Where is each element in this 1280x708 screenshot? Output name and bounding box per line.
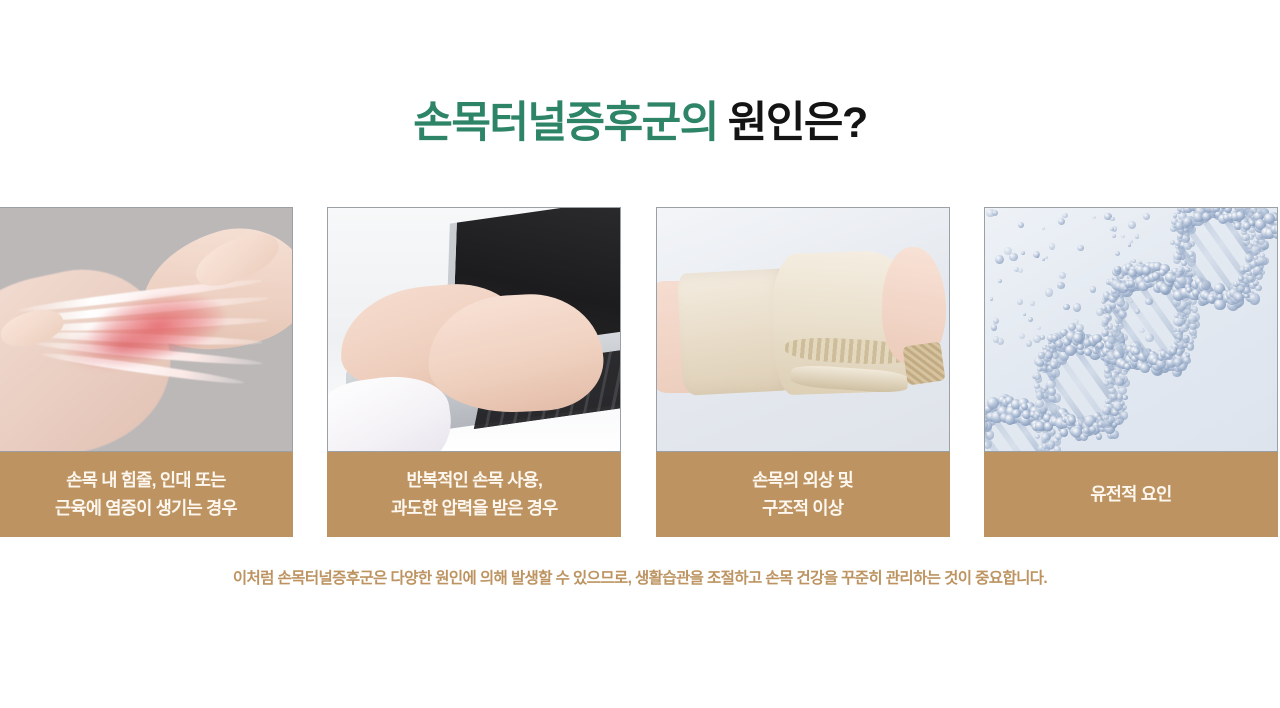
dna-sphere-scattered	[1143, 213, 1150, 220]
dna-sphere-scattered	[1096, 308, 1104, 316]
dna-sphere	[1114, 376, 1124, 386]
cause-card-inflammation: 손목 내 힘줄, 인대 또는 근육에 염증이 생기는 경우	[0, 207, 293, 537]
dna-sphere	[1174, 239, 1181, 246]
wrist-anatomy-inflammation-photo	[0, 207, 293, 452]
dna-sphere	[1035, 399, 1044, 408]
dna-sphere	[1140, 363, 1150, 373]
typing-on-laptop-photo	[327, 207, 621, 452]
dna-sphere	[1277, 228, 1278, 238]
dna-sphere	[1065, 345, 1076, 356]
dna-sphere	[1034, 383, 1040, 389]
dna-sphere	[1054, 452, 1060, 453]
cause-card-genetic: 유전적 요인	[984, 207, 1278, 537]
dna-sphere-scattered	[1063, 304, 1069, 310]
dna-sphere-scattered	[1068, 323, 1076, 331]
dna-sphere-scattered	[1023, 313, 1026, 316]
dna-sphere-scattered	[1018, 268, 1023, 273]
dna-sphere	[1089, 426, 1096, 433]
dna-sphere	[1161, 285, 1169, 293]
page-title-question: 원인은?	[728, 99, 867, 147]
dna-sphere-scattered	[1021, 251, 1025, 255]
dna-sphere-scattered	[1110, 227, 1113, 230]
dna-sphere-scattered	[1145, 298, 1153, 306]
dna-helix-photo	[984, 207, 1278, 452]
caption-line-2: 과도한 압력을 받은 경우	[391, 495, 558, 522]
dna-sphere	[1120, 411, 1128, 419]
dna-sphere-scattered	[1090, 286, 1096, 292]
dna-sphere-scattered	[1049, 243, 1055, 249]
dna-sphere-scattered	[1073, 303, 1082, 312]
dna-sphere	[1102, 317, 1109, 324]
dna-sphere-scattered	[1114, 307, 1120, 313]
dna-sphere-scattered	[1026, 340, 1032, 346]
caption-line-2: 근육에 염증이 생기는 경우	[55, 495, 237, 522]
dna-sphere-scattered	[1018, 222, 1024, 228]
dna-sphere	[1041, 433, 1050, 442]
wrist-brace-photo	[656, 207, 950, 452]
dna-sphere	[1173, 213, 1177, 217]
dna-sphere-scattered	[1115, 251, 1120, 256]
cause-card-caption: 유전적 요인	[984, 452, 1278, 537]
dna-sphere	[1257, 256, 1266, 265]
dna-sphere-scattered	[1078, 245, 1085, 252]
dna-sphere	[1188, 315, 1197, 324]
dna-sphere-scattered	[1083, 339, 1091, 347]
cause-card-repetitive-use: 반복적인 손목 사용, 과도한 압력을 받은 경우	[327, 207, 621, 537]
dna-sphere-scattered	[1028, 317, 1033, 322]
dna-sphere-scattered	[1045, 288, 1053, 296]
dna-sphere-scattered	[1062, 213, 1068, 219]
dna-sphere-scattered	[1045, 256, 1048, 259]
dna-sphere	[1191, 306, 1198, 313]
dna-sphere	[1048, 387, 1056, 395]
page-title: 손목터널증후군의원인은?	[0, 102, 1280, 145]
dna-sphere	[1040, 335, 1045, 340]
dna-sphere-scattered	[1139, 328, 1144, 333]
page-title-highlight: 손목터널증후군의	[413, 99, 717, 147]
dna-sphere	[1122, 395, 1128, 401]
dna-sphere	[1107, 377, 1114, 384]
dna-sphere	[1244, 294, 1248, 298]
brace-velcro-strap	[902, 342, 945, 386]
summary-note: 이처럼 손목터널증후군은 다양한 원인에 의해 발생할 수 있으므로, 생활습관…	[0, 566, 1280, 588]
dna-sphere-scattered	[998, 279, 1002, 283]
dna-sphere-scattered	[1059, 272, 1066, 279]
dna-sphere-scattered	[1110, 217, 1115, 222]
cause-card-caption: 손목 내 힘줄, 인대 또는 근육에 염증이 생기는 경우	[0, 452, 293, 537]
dna-sphere-scattered	[1058, 218, 1065, 225]
dna-sphere	[1107, 398, 1113, 404]
dna-sphere	[1237, 285, 1244, 292]
dna-sphere-scattered	[1004, 247, 1012, 255]
caption-line-1: 손목의 외상 및	[752, 467, 853, 494]
dna-sphere-scattered	[1037, 326, 1041, 330]
dna-sphere-scattered	[1033, 251, 1040, 258]
dna-sphere-scattered	[1030, 301, 1035, 306]
dna-sphere	[1183, 357, 1191, 365]
caption-line-2: 구조적 이상	[762, 495, 843, 522]
dna-sphere	[1021, 403, 1028, 410]
dna-sphere-scattered	[992, 210, 998, 216]
dna-sphere	[1249, 293, 1261, 305]
dna-sphere-scattered	[1121, 235, 1125, 239]
dna-sphere	[1073, 333, 1083, 343]
dna-sphere-scattered	[1145, 334, 1153, 342]
dna-sphere-scattered	[1112, 234, 1116, 238]
dna-sphere-scattered	[1132, 259, 1136, 263]
caption-line-1: 손목 내 힘줄, 인대 또는	[66, 467, 225, 494]
dna-sphere-scattered	[1128, 221, 1137, 230]
caption-line-1: 유전적 요인	[1090, 481, 1171, 508]
dna-sphere-scattered	[1042, 227, 1045, 230]
dna-sphere	[1244, 267, 1249, 272]
dna-sphere-scattered	[1057, 282, 1065, 290]
dna-sphere-scattered	[991, 324, 997, 330]
dna-sphere	[1098, 422, 1103, 427]
cause-card-list: 손목 내 힘줄, 인대 또는 근육에 염증이 생기는 경우 반복적인 손목 사용…	[0, 207, 1280, 537]
caption-line-1: 반복적인 손목 사용,	[406, 467, 542, 494]
dna-sphere	[1060, 428, 1069, 437]
dna-sphere	[1068, 416, 1076, 424]
cause-card-trauma: 손목의 외상 및 구조적 이상	[656, 207, 950, 537]
dna-sphere-scattered	[1092, 216, 1095, 219]
dna-sphere-scattered	[1130, 240, 1133, 243]
dna-sphere-scattered	[1135, 234, 1140, 239]
dna-sphere	[1108, 336, 1116, 344]
dna-sphere	[1096, 433, 1103, 440]
dna-sphere	[1181, 324, 1189, 332]
dna-sphere	[1187, 344, 1194, 351]
dna-sphere-scattered	[1017, 299, 1023, 305]
dna-sphere	[1054, 446, 1061, 452]
dna-sphere-scattered	[1019, 333, 1025, 339]
dna-sphere	[1186, 353, 1190, 357]
dna-sphere-scattered	[990, 297, 994, 301]
dna-sphere	[1112, 326, 1118, 332]
dna-sphere	[1035, 434, 1040, 439]
dna-sphere-scattered	[1128, 243, 1132, 247]
cause-card-caption: 반복적인 손목 사용, 과도한 압력을 받은 경우	[327, 452, 621, 537]
dna-sphere-scattered	[995, 255, 1004, 264]
dna-sphere	[1251, 245, 1260, 254]
cause-card-caption: 손목의 외상 및 구조적 이상	[656, 452, 950, 537]
dna-sphere	[1255, 285, 1261, 291]
dna-sphere-scattered	[1033, 335, 1041, 343]
dna-sphere	[1235, 293, 1244, 302]
dna-sphere	[1185, 267, 1190, 272]
